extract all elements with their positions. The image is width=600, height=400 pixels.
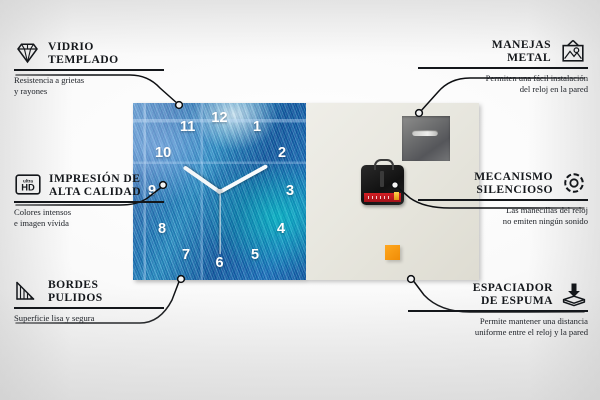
clock-numeral-3: 3 <box>286 184 294 199</box>
clock-numeral-11: 11 <box>180 120 195 135</box>
feature-desc-line1: Colores intensos <box>14 207 71 217</box>
divider <box>408 310 588 312</box>
feature-desc-line2: e imagen vívida <box>14 218 69 228</box>
feature-title-line2: TEMPLADO <box>48 53 119 66</box>
feature-bordes-pulidos: BORDES PULIDOS Superficie lisa y segura <box>14 278 164 324</box>
divider <box>418 199 588 201</box>
diamond-icon <box>14 41 41 65</box>
divider <box>14 307 164 309</box>
feature-title-line1: ESPACIADOR <box>473 281 553 294</box>
clock-second-hand <box>219 192 220 254</box>
divider <box>14 69 164 71</box>
feature-title-line1: MANEJAS <box>492 38 551 51</box>
feature-title-line1: IMPRESIÓN DE <box>49 172 140 185</box>
feature-desc-line2: no emiten ningún sonido <box>503 216 588 226</box>
feature-desc-line2: del reloj en la pared <box>520 84 588 94</box>
feature-desc-line2: y rayones <box>14 86 47 96</box>
feature-title-line2: METAL <box>507 51 551 64</box>
feature-desc-line1: Resistencia a grietas <box>14 75 84 85</box>
clock-numeral-10: 10 <box>155 146 171 161</box>
ultra-hd-icon: ultra HD <box>14 173 42 196</box>
gear-icon <box>560 170 588 196</box>
infographic-canvas: 12 1 2 3 4 5 6 7 8 9 10 11 <box>0 0 600 400</box>
feature-title-line1: MECANISMO <box>474 170 553 183</box>
feature-mecanismo-silencioso: MECANISMO SILENCIOSO Las manecillas del … <box>418 170 588 227</box>
feature-title-line2: ALTA CALIDAD <box>49 185 141 198</box>
polished-edges-icon <box>14 280 41 302</box>
feature-desc-line1: Permite mantener una distancia <box>480 316 588 326</box>
feature-desc-line1: Las manecillas del reloj <box>506 205 588 215</box>
feature-title-line1: VIDRIO <box>48 40 94 53</box>
divider <box>418 67 588 69</box>
feature-title-line1: BORDES <box>48 278 98 291</box>
feature-desc-line2: uniforme entre el reloj y la pared <box>475 327 588 337</box>
divider <box>14 201 164 203</box>
mechanism-shaft <box>380 171 384 187</box>
quartz-mechanism <box>361 165 404 205</box>
feature-desc-line1: Superficie lisa y segura <box>14 313 94 323</box>
clock-numeral-12: 12 <box>211 111 227 126</box>
hanging-picture-icon <box>558 38 588 64</box>
feature-title-line2: PULIDOS <box>48 291 103 304</box>
feature-espaciador-de-espuma: ESPACIADOR DE ESPUMA Permite mantener un… <box>408 281 588 338</box>
clock-numeral-2: 2 <box>278 146 286 161</box>
clock-numeral-7: 7 <box>182 248 190 263</box>
mechanism-battery-contact <box>394 192 399 200</box>
mechanism-red-label <box>364 193 401 202</box>
feature-vidrio-templado: VIDRIO TEMPLADO Resistencia a grietas y … <box>14 40 164 97</box>
clock-numeral-4: 4 <box>277 222 285 237</box>
feature-desc-line1: Permiten una fácil instalación <box>486 73 588 83</box>
clock-numeral-1: 1 <box>253 120 261 135</box>
feature-manejas-metal: MANEJAS METAL Permiten una fácil instala… <box>418 38 588 95</box>
ultra-hd-big-label: HD <box>21 182 35 193</box>
hanger-slot <box>412 130 438 136</box>
clock-numeral-5: 5 <box>251 248 259 263</box>
clock-hub-cap <box>217 189 222 194</box>
metal-hanger-plate <box>402 116 450 161</box>
feature-impresion-alta-calidad: ultra HD IMPRESIÓN DE ALTA CALIDAD Color… <box>14 172 164 229</box>
foam-spacer-icon <box>560 281 588 307</box>
clock-numeral-6: 6 <box>215 256 223 271</box>
mechanism-hanging-loop <box>374 159 394 170</box>
feature-title-line2: DE ESPUMA <box>481 294 553 307</box>
feature-title-line2: SILENCIOSO <box>476 183 553 196</box>
foam-spacer-pad <box>385 245 400 260</box>
